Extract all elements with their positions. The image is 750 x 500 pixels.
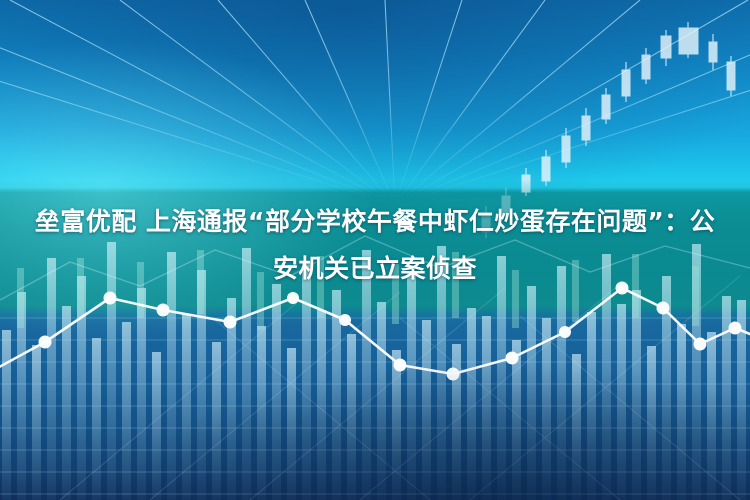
news-banner: 垒富优配 上海通报“部分学校午餐中虾仁炒蛋存在问题”：公 安机关已立案侦查 — [0, 0, 750, 500]
page-title: 垒富优配 上海通报“部分学校午餐中虾仁炒蛋存在问题”：公 安机关已立案侦查 — [0, 198, 750, 292]
headline-line-1: 垒富优配 上海通报“部分学校午餐中虾仁炒蛋存在问题”：公 — [22, 198, 728, 245]
line-chart-path — [0, 288, 750, 374]
headline-line-2: 安机关已立案侦查 — [22, 245, 728, 292]
line-chart-markers — [39, 282, 742, 381]
